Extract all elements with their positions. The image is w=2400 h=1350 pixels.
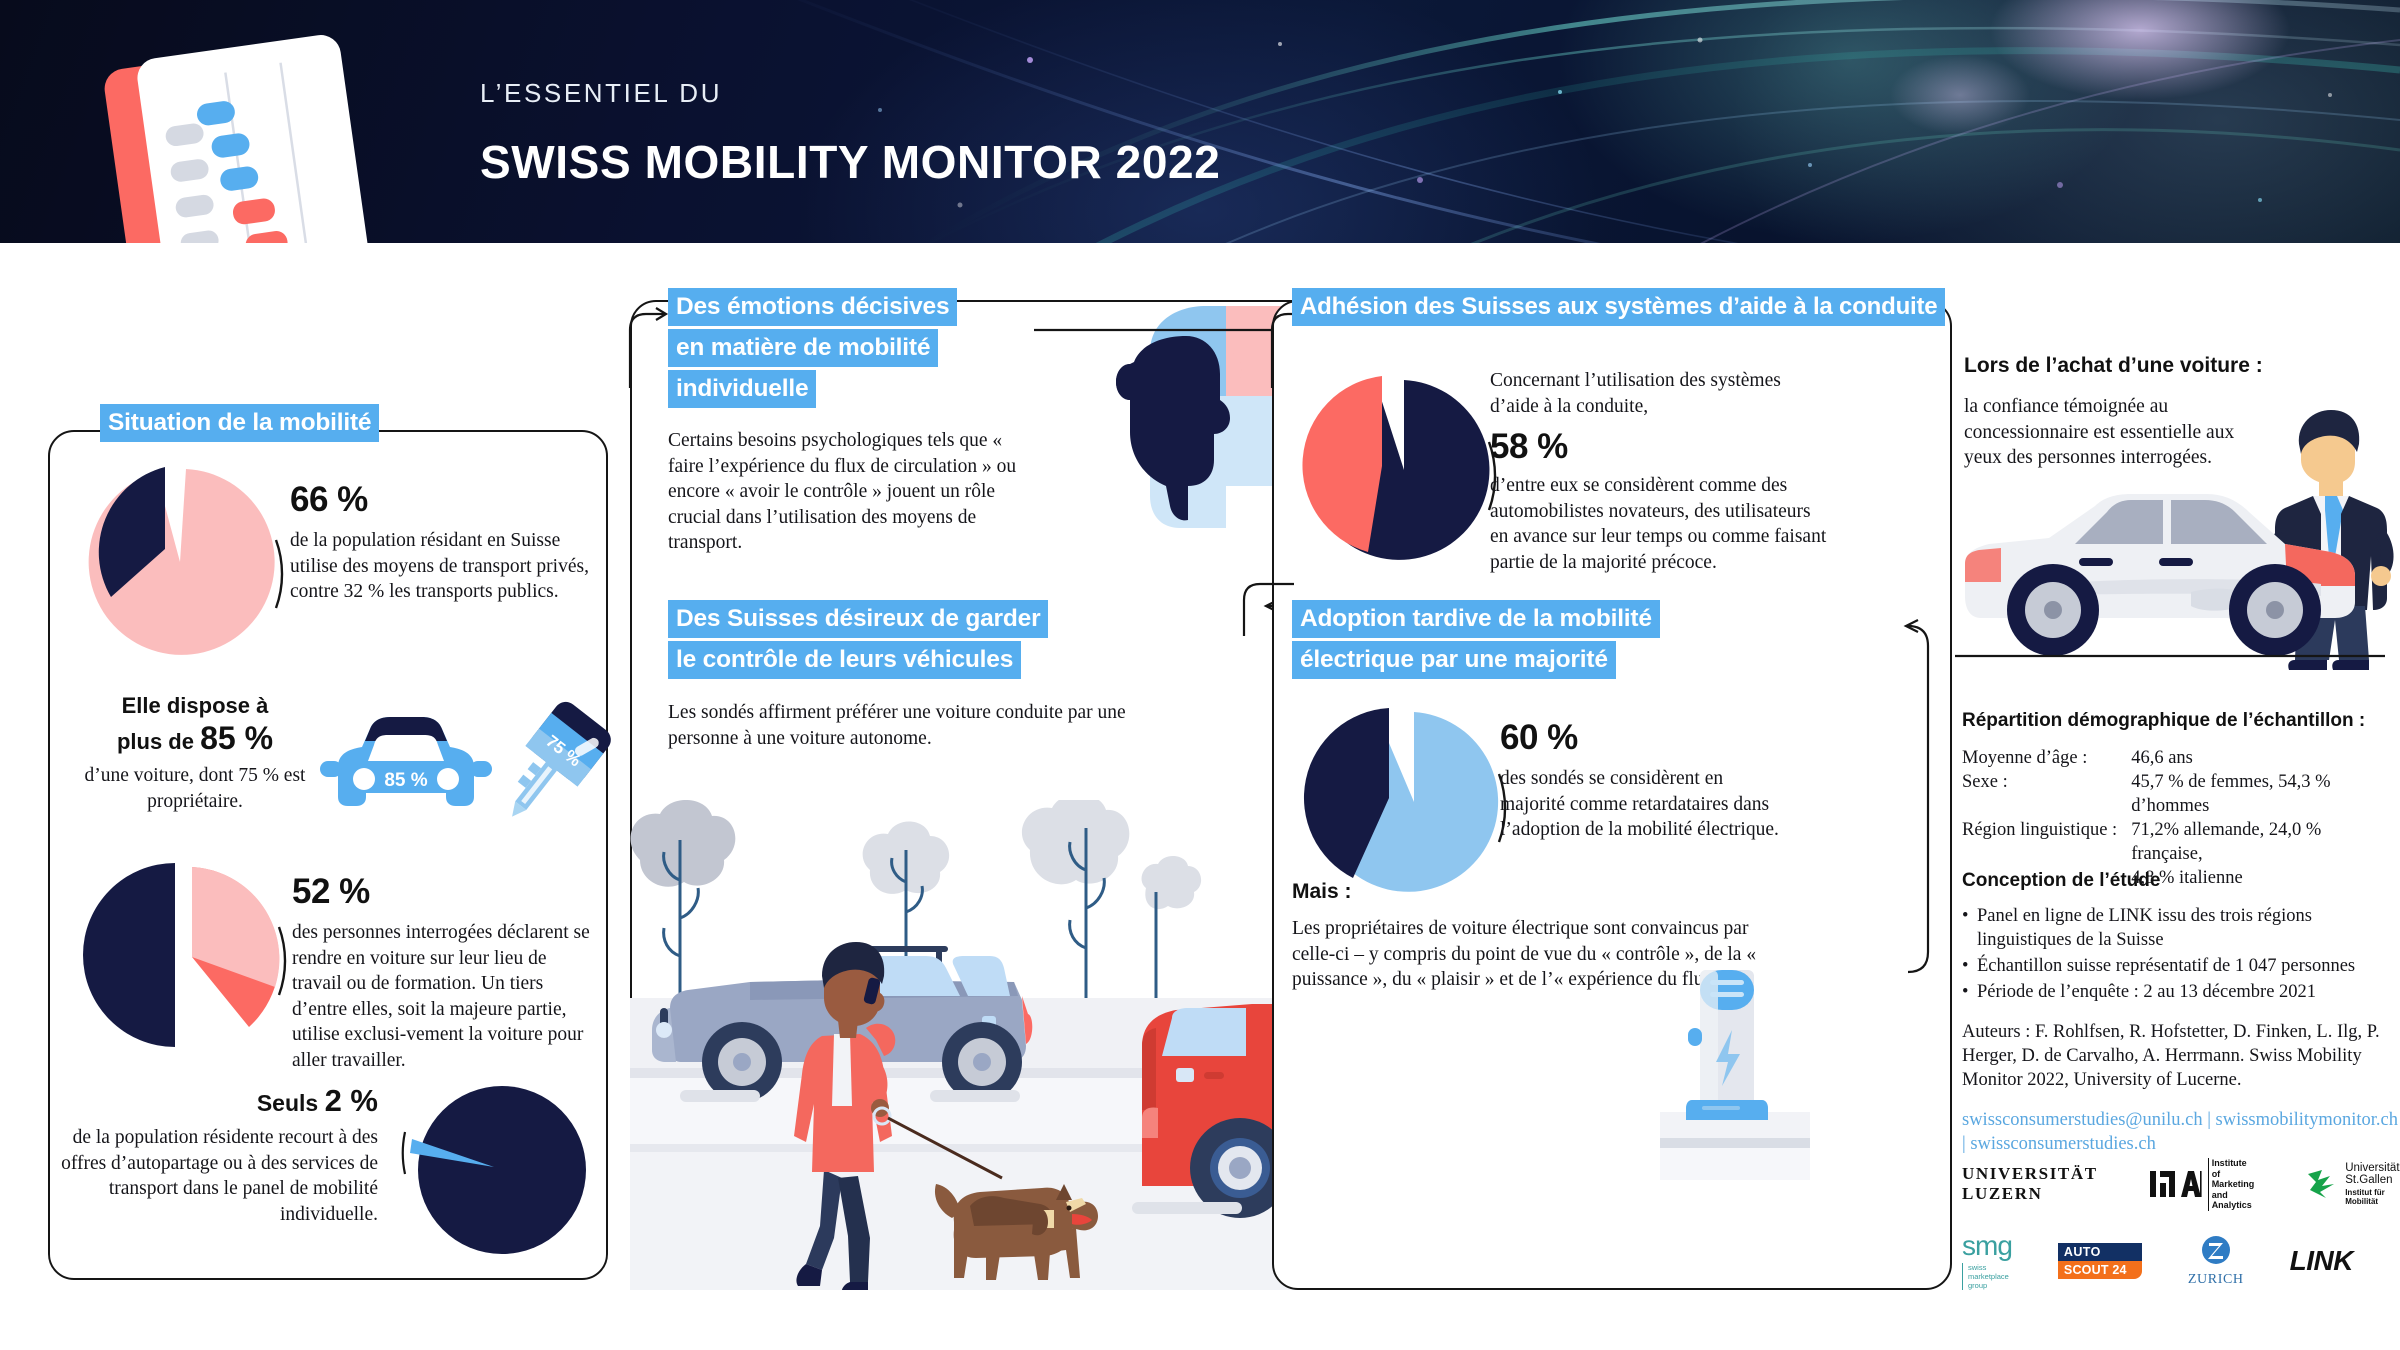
stat-52-value: 52 % <box>292 872 592 912</box>
car-icon: 85 % <box>310 705 500 825</box>
demographics-label-age: Moyenne d’âge : <box>1962 746 2131 770</box>
stat-2-text-block: Seuls 2 % de la population résidente rec… <box>58 1085 378 1227</box>
demographics-title: Répartition démographique de l’échantill… <box>1962 710 2382 732</box>
banner-emotions-line3: individuelle <box>668 370 816 408</box>
pie-chart-60 <box>1298 700 1508 900</box>
infographic-page: L’ESSENTIEL DU SWISS MOBILITY MONITOR 20… <box>0 0 2400 1350</box>
logo-smg-line1: swiss <box>1968 1263 2012 1272</box>
demographics-block: Répartition démographique de l’échantill… <box>1962 710 2382 890</box>
pie-chart-52 <box>78 855 288 1055</box>
control-text: Les sondés affirment préférer une voitur… <box>668 700 1138 751</box>
stat-60-block: 60 % des sondés se considèrent en majori… <box>1500 718 1790 843</box>
demographics-label-region: Région linguistique : <box>1962 818 2131 866</box>
banner-adas-label: Adhésion des Suisses aux systèmes d’aide… <box>1292 288 1945 326</box>
stat-85-text-block: Elle dispose à plus de 85 % d’une voitur… <box>80 690 310 814</box>
stat-2-value: 2 % <box>325 1083 378 1118</box>
stat-58-text: d’entre eux se considèrent comme des aut… <box>1490 473 1830 575</box>
study-links[interactable]: swissconsumerstudies@unilu.ch | swissmob… <box>1962 1108 2400 1156</box>
stat-85-lead-line2-pre: plus de <box>117 729 194 754</box>
logo-smg-line2: marketplace <box>1968 1272 2012 1281</box>
stat-52-block: 52 % des personnes interrogées déclarent… <box>292 872 592 1073</box>
banner-ev-line1: Adoption tardive de la mobilité <box>1292 600 1660 638</box>
logo-ima-line2: Marketing and <box>2212 1179 2255 1200</box>
demographics-value-sex: 45,7 % de femmes, 54,3 % d’hommes <box>2131 770 2382 818</box>
logo-ima-line1: Institute of <box>2212 1158 2255 1179</box>
pie-chart-66 <box>75 462 285 662</box>
white-car-and-salesman-illustration <box>1955 400 2385 660</box>
stat-2-lead-pre: Seuls <box>257 1090 318 1116</box>
pie-chart-58 <box>1288 368 1498 568</box>
banner-emotions-line1: Des émotions décisives <box>668 288 957 326</box>
stat-66-block: 66 % de la population résidant en Suisse… <box>290 480 590 605</box>
logo-zurich: ZURICH <box>2188 1235 2244 1288</box>
banner-emotions: Des émotions décisives en matière de mob… <box>668 288 1028 408</box>
logo-zurich-label: ZURICH <box>2188 1272 2244 1288</box>
stat-60-text: des sondés se considèrent en majorité co… <box>1500 766 1790 843</box>
demographics-value-age: 46,6 ans <box>2131 746 2382 770</box>
stat-85-text: d’une voiture, dont 75 % est propriétair… <box>80 763 310 814</box>
logo-ima: Institute of Marketing and Analytics <box>2150 1158 2255 1211</box>
stat-60-value: 60 % <box>1500 718 1790 758</box>
st-gallen-mark-icon <box>2306 1168 2338 1200</box>
stat-58-block: Concernant l’utilisation des systèmes d’… <box>1490 368 1830 575</box>
banner-mobility-situation: Situation de la mobilité <box>100 404 379 442</box>
demographics-table: Moyenne d’âge : 46,6 ans Sexe : 45,7 % d… <box>1962 746 2382 890</box>
logo-autoscout24: AUTO SCOUT 24 <box>2058 1243 2142 1279</box>
banner-adas: Adhésion des Suisses aux systèmes d’aide… <box>1292 288 1945 326</box>
header-banner: L’ESSENTIEL DU SWISS MOBILITY MONITOR 20… <box>0 0 2400 243</box>
stat-66-text: de la population résidant en Suisse util… <box>290 528 590 605</box>
study-authors: Auteurs : F. Rohlfsen, R. Hofstetter, D.… <box>1962 1020 2400 1092</box>
header-kicker: L’ESSENTIEL DU <box>480 78 1220 109</box>
key-icon: 75 % <box>480 700 620 830</box>
table-row: Sexe : 45,7 % de femmes, 54,3 % d’hommes <box>1962 770 2382 818</box>
table-row: Région linguistique : 71,2% allemande, 2… <box>1962 818 2382 866</box>
stat-66-value: 66 % <box>290 480 590 520</box>
logo-stgallen-line1: Universität St.Gallen <box>2345 1162 2400 1186</box>
logo-smg: smg swiss marketplace group <box>1962 1233 2012 1290</box>
stat-52-text: des personnes interrogées déclarent se r… <box>292 920 592 1073</box>
street-scene-illustration <box>630 800 1320 1290</box>
logo-strip: UNIVERSITÄT LUZERN Institute of Marketin… <box>1962 1158 2400 1290</box>
logo-autoscout-line1: AUTO <box>2058 1243 2142 1261</box>
logo-universitat-st-gallen: Universität St.Gallen Institut für Mobil… <box>2306 1162 2400 1206</box>
page-title: SWISS MOBILITY MONITOR 2022 <box>480 135 1220 189</box>
stat-58-value: 58 % <box>1490 427 1830 467</box>
list-item: • Panel en ligne de LINK issu des trois … <box>1962 904 2400 952</box>
demographics-label-sex: Sexe : <box>1962 770 2131 818</box>
zurich-mark-icon <box>2201 1235 2231 1265</box>
banner-control-line2: le contrôle de leurs véhicules <box>668 641 1021 679</box>
logo-autoscout-line2: SCOUT 24 <box>2058 1261 2142 1279</box>
list-item: • Échantillon suisse représentatif de 1 … <box>1962 954 2400 978</box>
logo-ima-line3: Analytics <box>2212 1200 2255 1211</box>
charging-station-icon <box>1660 950 1810 1180</box>
study-bullet-2: Échantillon suisse représentatif de 1 04… <box>1977 956 2355 976</box>
demographics-value-region: 71,2% allemande, 24,0 % française, <box>2131 818 2382 866</box>
logo-link: LINK <box>2290 1245 2353 1277</box>
banner-ev-adoption: Adoption tardive de la mobilité électriq… <box>1292 600 1722 679</box>
clipboard-illustration <box>100 30 430 243</box>
emotions-text: Certains besoins psychologiques tels que… <box>668 428 1028 556</box>
logo-universitat-luzern: UNIVERSITÄT LUZERN <box>1962 1164 2098 1204</box>
adas-intro-text: Concernant l’utilisation des systèmes d’… <box>1490 368 1830 419</box>
logo-luzern-line1: UNIVERSITÄT <box>1962 1164 2098 1184</box>
study-bullet-3: Période de l’enquête : 2 au 13 décembre … <box>1977 982 2316 1002</box>
banner-ev-line2: électrique par une majorité <box>1292 641 1616 679</box>
pie-chart-2 <box>400 1080 600 1260</box>
study-bullet-1: Panel en ligne de LINK issu des trois ré… <box>1977 906 2312 950</box>
connector-right-spine <box>1900 600 1960 1020</box>
banner-control: Des Suisses désireux de garder le contrô… <box>668 600 1098 679</box>
logo-smg-mark: smg <box>1962 1233 2012 1259</box>
car-icon-label: 85 % <box>384 770 427 791</box>
study-design-title: Conception de l’étude <box>1962 870 2400 892</box>
stat-85-lead-line1: Elle dispose à <box>80 690 310 721</box>
logo-link-label: LINK <box>2290 1245 2353 1276</box>
ima-mark-icon <box>2150 1169 2202 1199</box>
logo-smg-line3: group <box>1968 1281 2012 1290</box>
ev-but-label: Mais : <box>1292 880 1762 904</box>
banner-mobility-situation-label: Situation de la mobilité <box>100 404 379 442</box>
list-item: • Période de l’enquête : 2 au 13 décembr… <box>1962 980 2400 1004</box>
purchase-title: Lors de l’achat d’une voiture : <box>1964 354 2394 378</box>
banner-control-line1: Des Suisses désireux de garder <box>668 600 1048 638</box>
study-design-block: Conception de l’étude • Panel en ligne d… <box>1962 870 2400 1156</box>
logo-luzern-line2: LUZERN <box>1962 1184 2098 1204</box>
logo-stgallen-line2: Institut für Mobilität <box>2345 1188 2400 1206</box>
stat-85-value: 85 % <box>200 720 273 756</box>
table-row: Moyenne d’âge : 46,6 ans <box>1962 746 2382 770</box>
stat-2-text: de la population résidente recourt à des… <box>58 1125 378 1227</box>
banner-emotions-line2: en matière de mobilité <box>668 329 938 367</box>
